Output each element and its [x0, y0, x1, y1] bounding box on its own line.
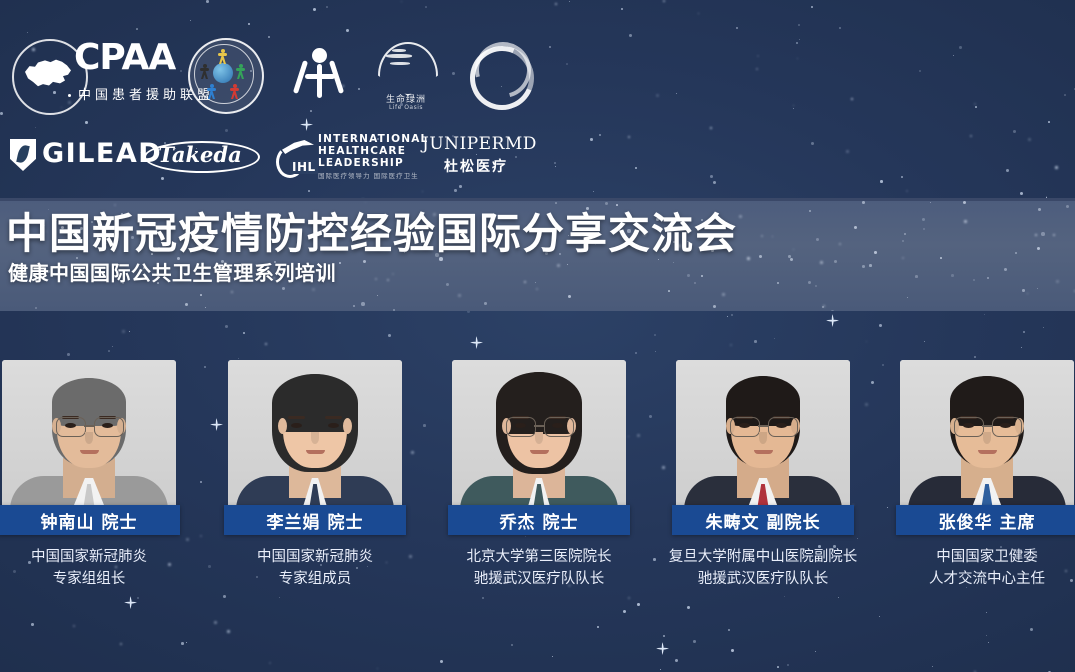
poster-stage: CPAA 中国患者援助联盟 生命绿洲 Life Oasis [0, 0, 1075, 672]
speaker-name-bar: 张俊华 主席 [896, 505, 1075, 535]
ring-logo [464, 34, 532, 116]
speaker-affiliation: 中国国家新冠肺炎 专家组成员 [214, 546, 416, 591]
speaker-portrait [452, 360, 626, 508]
speaker-name-bar: 李兰娟 院士 [224, 505, 406, 535]
seal-figure-blue-icon [206, 84, 217, 99]
person-body-icon [317, 64, 322, 98]
junipermd-logo: JUNIPERMD 杜松医疗 [422, 130, 532, 180]
speaker-affiliation: 中国国家卫健委 人才交流中心主任 [886, 546, 1075, 591]
cpaa-logo: CPAA 中国患者援助联盟 [8, 34, 166, 116]
portrait-brow-left [288, 416, 305, 419]
partner-logo-row-primary: CPAA 中国患者援助联盟 生命绿洲 Life Oasis [8, 34, 532, 116]
cpaa-wordmark: CPAA [74, 40, 175, 76]
portrait-nose [535, 432, 543, 444]
portrait-nose [759, 432, 767, 444]
ihl-mark-icon: IHL [276, 136, 316, 174]
portrait-mouth [978, 450, 997, 454]
portrait-mouth [530, 450, 549, 454]
portrait-eye-right [328, 423, 339, 428]
speaker-affiliation-line-2: 驰援武汉医疗队队长 [662, 568, 864, 590]
national-health-talent-seal-logo [184, 34, 262, 116]
ihl-line-3: LEADERSHIP [318, 158, 428, 170]
portrait-mouth [754, 450, 773, 454]
speaker-affiliation: 中国国家新冠肺炎 专家组组长 [0, 546, 190, 591]
life-oasis-english-name: Life Oasis [376, 104, 436, 111]
speaker-affiliation-line-1: 中国国家新冠肺炎 [214, 546, 416, 568]
bottom-spacer [0, 620, 1075, 672]
speaker-affiliation-line-2: 专家组成员 [214, 568, 416, 590]
takeda-logo: Takeda [138, 131, 262, 179]
seal-figure-red-icon [229, 84, 240, 99]
portrait-ear-left [278, 418, 287, 434]
speaker-affiliation-line-1: 中国国家卫健委 [886, 546, 1075, 568]
title-banner: 中国新冠疫情防控经验国际分享交流会 健康中国国际公共卫生管理系列培训 [0, 198, 1075, 311]
speaker-card[interactable]: 朱畴文 副院长 复旦大学附属中山医院副院长 驰援武汉医疗队队长 [676, 360, 850, 508]
heart-outline-icon [378, 42, 438, 96]
ihl-line-2: HEALTHCARE [318, 146, 428, 158]
speaker-card[interactable]: 钟南山 院士 中国国家新冠肺炎 专家组组长 [2, 360, 176, 508]
speaker-name: 乔杰 院士 [500, 508, 579, 533]
sponsor-logo-row-secondary: GILEAD Takeda IHL INTERNATIONAL HEALTHCA… [8, 130, 532, 180]
speaker-portrait [228, 360, 402, 508]
page-title: 中国新冠疫情防控经验国际分享交流会 [6, 213, 737, 255]
speaker-name: 李兰娟 院士 [267, 508, 364, 533]
ihl-line-1: INTERNATIONAL [318, 134, 428, 146]
wave-icon-2 [390, 62, 410, 65]
ihl-logo: IHL INTERNATIONAL HEALTHCARE LEADERSHIP … [276, 130, 406, 180]
speaker-affiliation: 北京大学第三医院院长 驰援武汉医疗队队长 [438, 546, 640, 591]
person-figure-logo [288, 34, 346, 116]
speaker-affiliation-line-2: 专家组组长 [0, 568, 190, 590]
speaker-card[interactable]: 乔杰 院士 北京大学第三医院院长 驰援武汉医疗队队长 [452, 360, 626, 508]
portrait-nose [311, 432, 319, 444]
seal-figure-dark-icon [199, 64, 210, 79]
speaker-affiliation-line-2: 人才交流中心主任 [886, 568, 1075, 590]
speaker-portrait [900, 360, 1074, 508]
speaker-list: 钟南山 院士 中国国家新冠肺炎 专家组组长 [0, 360, 1075, 620]
portrait-mouth [306, 450, 325, 454]
speaker-photo [228, 360, 402, 508]
seal-figure-yellow-icon [217, 49, 228, 64]
speaker-name-bar: 朱畴文 副院长 [672, 505, 854, 535]
speaker-affiliation: 复旦大学附属中山医院副院长 驰援武汉医疗队队长 [662, 546, 864, 591]
ihl-chinese-name: 国际医疗领导力 国际医疗卫生 [318, 170, 419, 180]
person-head-icon [312, 48, 327, 63]
speaker-affiliation-line-2: 驰援武汉医疗队队长 [438, 568, 640, 590]
portrait-ear-right [343, 418, 352, 434]
speaker-name: 朱畴文 副院长 [706, 508, 821, 533]
portrait-eye-left [291, 423, 302, 428]
speaker-photo [2, 360, 176, 508]
speaker-name-bar: 乔杰 院士 [448, 505, 630, 535]
speaker-affiliation-line-1: 中国国家新冠肺炎 [0, 546, 190, 568]
ihl-wordmark: INTERNATIONAL HEALTHCARE LEADERSHIP [318, 134, 428, 169]
speaker-portrait [2, 360, 176, 508]
speaker-photo [676, 360, 850, 508]
speaker-photo [452, 360, 626, 508]
wave-icon-1 [386, 54, 412, 58]
speaker-name: 钟南山 院士 [41, 508, 138, 533]
gilead-logo: GILEAD [8, 131, 128, 179]
junipermd-chinese-name: 杜松医疗 [444, 156, 508, 176]
seal-figure-green-icon [235, 64, 246, 79]
life-oasis-logo: 生命绿洲 Life Oasis [370, 34, 442, 116]
portrait-nose [85, 432, 93, 444]
speaker-photo [900, 360, 1074, 508]
speaker-affiliation-line-1: 北京大学第三医院院长 [438, 546, 640, 568]
person-cross-icon [305, 74, 335, 79]
speaker-name-bar: 钟南山 院士 [0, 505, 180, 535]
portrait-brow-right [325, 416, 342, 419]
cpaa-dot-icon [68, 94, 71, 97]
speaker-card[interactable]: 张俊华 主席 中国国家卫健委 人才交流中心主任 [900, 360, 1074, 508]
page-subtitle: 健康中国国际公共卫生管理系列培训 [8, 263, 336, 283]
ihl-abbreviation: IHL [290, 160, 318, 174]
speaker-portrait [676, 360, 850, 508]
takeda-wordmark: Takeda [138, 144, 262, 165]
speaker-affiliation-line-1: 复旦大学附属中山医院副院长 [662, 546, 864, 568]
wave-icon-3 [392, 49, 406, 52]
globe-icon [213, 63, 233, 83]
speaker-card[interactable]: 李兰娟 院士 中国国家新冠肺炎 专家组成员 [228, 360, 402, 508]
portrait-mouth [80, 450, 99, 454]
speaker-name: 张俊华 主席 [939, 508, 1036, 533]
portrait-nose [983, 432, 991, 444]
junipermd-wordmark: JUNIPERMD [422, 134, 537, 154]
